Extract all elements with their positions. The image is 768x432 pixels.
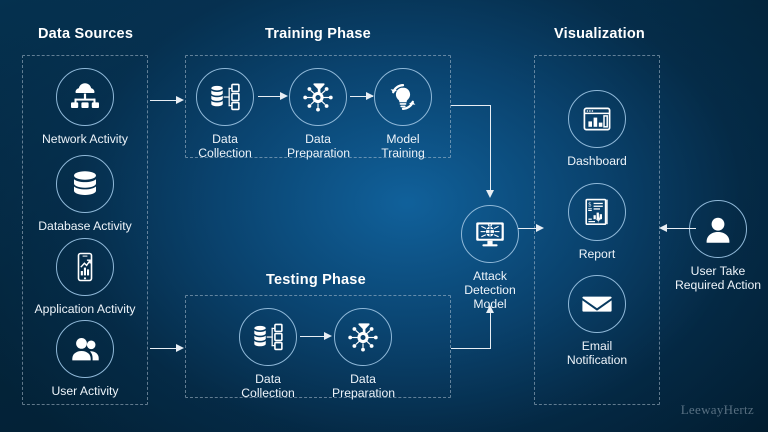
- node-training-data-preparation[interactable]: Data Preparation: [287, 68, 349, 160]
- arrowhead-test-collection-to-prep: [324, 332, 332, 340]
- mobile-chart-icon: [56, 238, 114, 296]
- dashboard-icon: [568, 90, 626, 148]
- arrowhead-train-collection-to-prep: [280, 92, 288, 100]
- users-icon: [56, 320, 114, 378]
- node-training-data-collection[interactable]: Data Collection: [194, 68, 256, 160]
- network-icon: [56, 68, 114, 126]
- node-email-notification[interactable]: Email Notification: [566, 275, 628, 367]
- node-label: User Take Required Action: [672, 264, 764, 292]
- report-icon: $: [568, 183, 626, 241]
- svg-text:$: $: [588, 201, 591, 208]
- node-label: Email Notification: [566, 339, 628, 367]
- connector-sources-to-testing: [150, 348, 178, 349]
- node-network-activity[interactable]: Network Activity: [27, 68, 143, 146]
- node-application-activity[interactable]: Application Activity: [27, 238, 143, 316]
- arrowhead-sources-to-training: [176, 96, 184, 104]
- node-dashboard[interactable]: Dashboard: [566, 90, 628, 168]
- node-label: Data Collection: [194, 132, 256, 160]
- node-label: Model Training: [372, 132, 434, 160]
- data-preparation-icon: [334, 308, 392, 366]
- caption-data-sources: Data Sources: [38, 26, 133, 42]
- connector-training-to-core-h: [451, 105, 491, 106]
- node-label: Report: [566, 247, 628, 261]
- connector-user-to-visualization: [666, 228, 696, 229]
- node-label: Database Activity: [27, 219, 143, 233]
- arrowhead-user-to-visualization: [659, 224, 667, 232]
- node-label: Data Preparation: [287, 132, 349, 160]
- node-attack-detection-model[interactable]: Attack Detection Model: [459, 205, 521, 312]
- data-collection-icon: [239, 308, 297, 366]
- arrowhead-train-prep-to-model: [366, 92, 374, 100]
- connector-testing-to-core-h: [451, 348, 491, 349]
- node-report[interactable]: $ Report: [566, 183, 628, 261]
- caption-visualization: Visualization: [554, 26, 645, 42]
- node-label: Data Collection: [237, 372, 299, 400]
- user-icon: [689, 200, 747, 258]
- connector-sources-to-training: [150, 100, 178, 101]
- arrowhead-core-to-visualization: [536, 224, 544, 232]
- arrowhead-sources-to-testing: [176, 344, 184, 352]
- model-training-icon: [374, 68, 432, 126]
- node-model-training[interactable]: Model Training: [372, 68, 434, 160]
- connector-training-to-core-v: [490, 105, 491, 191]
- caption-testing-phase: Testing Phase: [266, 272, 366, 288]
- caption-training-phase: Training Phase: [265, 26, 371, 42]
- node-user-action[interactable]: User Take Required Action: [672, 200, 764, 292]
- connector-train-collection-to-prep: [258, 96, 282, 97]
- node-label: Network Activity: [27, 132, 143, 146]
- node-label: User Activity: [27, 384, 143, 398]
- data-collection-icon: [196, 68, 254, 126]
- database-icon: [56, 155, 114, 213]
- data-preparation-icon: [289, 68, 347, 126]
- connector-testing-to-core-v: [490, 312, 491, 349]
- email-icon: [568, 275, 626, 333]
- arrowhead-testing-to-core: [486, 305, 494, 313]
- node-label: Data Preparation: [332, 372, 394, 400]
- node-user-activity[interactable]: User Activity: [27, 320, 143, 398]
- testing-phase-box: [185, 295, 451, 398]
- node-testing-data-preparation[interactable]: Data Preparation: [332, 308, 394, 400]
- node-label: Application Activity: [27, 302, 143, 316]
- diagram-canvas: Data Sources Training Phase Testing Phas…: [0, 0, 768, 432]
- arrowhead-training-to-core: [486, 190, 494, 198]
- attack-detection-icon: [461, 205, 519, 263]
- node-database-activity[interactable]: Database Activity: [27, 155, 143, 233]
- node-label: Dashboard: [566, 154, 628, 168]
- watermark: LeewayHertz: [681, 402, 754, 418]
- node-testing-data-collection[interactable]: Data Collection: [237, 308, 299, 400]
